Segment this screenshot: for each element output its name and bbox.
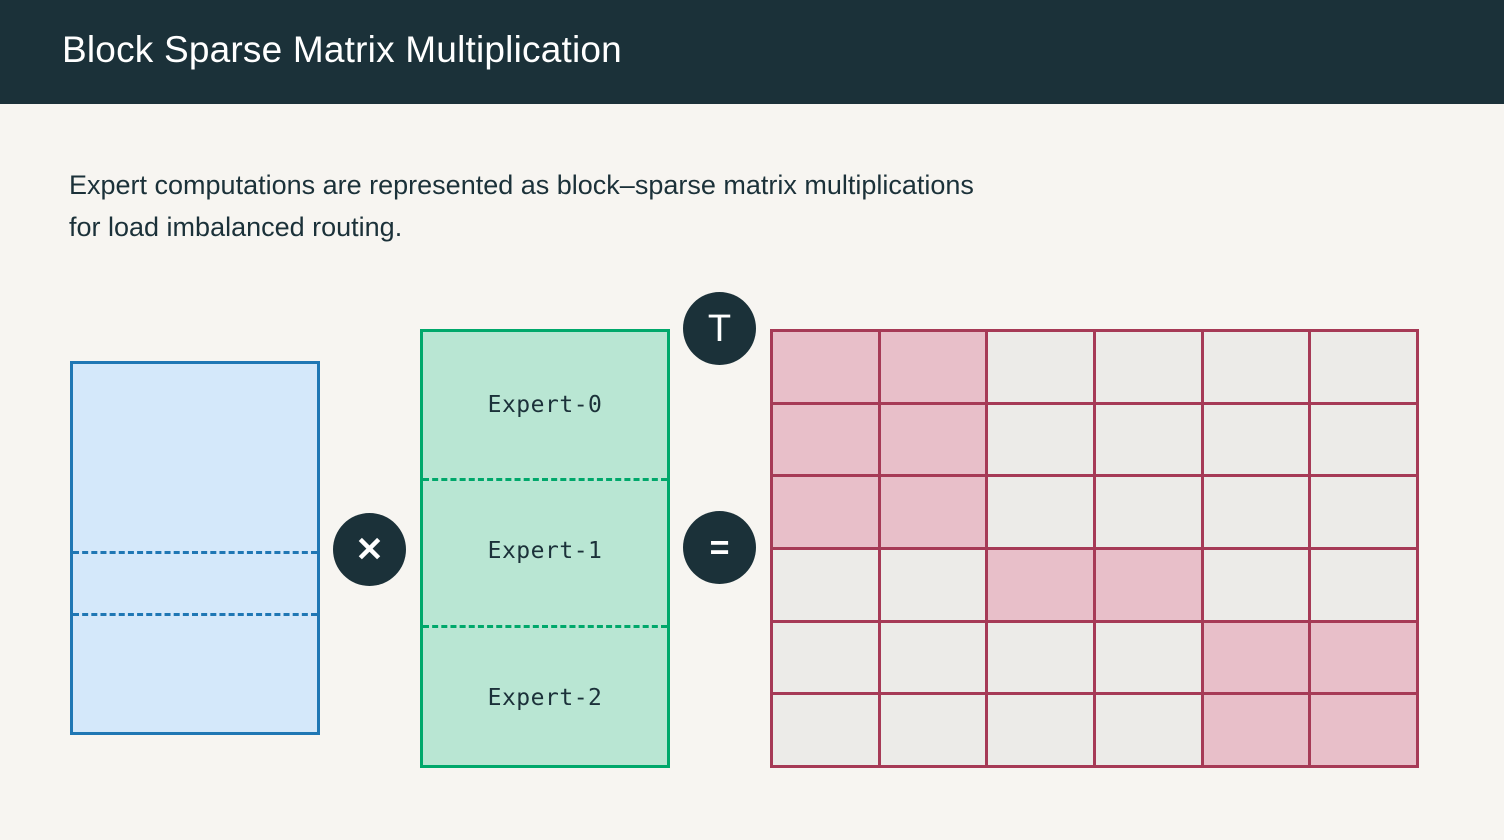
expert-label: Expert-1 [488,538,603,564]
result-cell-active [881,405,989,478]
multiply-operator-badge: ✕ [333,513,406,586]
result-cell-empty [1096,695,1204,768]
result-cell-empty [988,405,1096,478]
expert-section: Expert-1 [423,478,667,624]
result-cell-empty [1096,623,1204,696]
result-cell-empty [1096,405,1204,478]
expert-label: Expert-2 [488,685,603,711]
result-cell-empty [881,695,989,768]
expert-section: Expert-2 [423,625,667,771]
block-sparse-result-matrix [770,329,1419,768]
result-cell-active [773,405,881,478]
tokens-matrix-divider [73,613,317,616]
expert-matrix-divider [423,625,667,628]
result-cell-empty [1204,332,1312,405]
tokens-matrix-divider [73,551,317,554]
equals-operator-badge: = [683,511,756,584]
result-cell-active [1311,623,1419,696]
result-cell-empty [1311,550,1419,623]
result-cell-empty [1096,332,1204,405]
result-cell-empty [1204,477,1312,550]
transpose-icon: T [708,310,731,348]
transpose-operator-badge: T [683,292,756,365]
result-cell-empty [988,477,1096,550]
result-cell-active [773,477,881,550]
result-cell-empty [1096,477,1204,550]
result-cell-active [881,332,989,405]
result-cell-active [881,477,989,550]
result-cell-empty [1311,332,1419,405]
result-cell-empty [1204,405,1312,478]
expert-matrix-divider [423,478,667,481]
result-cell-empty [988,623,1096,696]
equals-icon: = [710,531,730,565]
result-cell-active [1311,695,1419,768]
multiply-icon: ✕ [355,533,384,567]
result-cell-empty [988,332,1096,405]
result-cell-active [1096,550,1204,623]
result-cell-active [988,550,1096,623]
result-cell-empty [773,550,881,623]
result-cell-empty [773,623,881,696]
result-cell-empty [881,623,989,696]
result-cell-empty [1311,477,1419,550]
expert-label: Expert-0 [488,392,603,418]
result-cell-active [1204,695,1312,768]
result-cell-empty [1204,550,1312,623]
result-cell-empty [881,550,989,623]
result-cell-active [1204,623,1312,696]
expert-weights-matrix: Expert-0 Expert-1 Expert-2 [420,329,670,768]
expert-section: Expert-0 [423,332,667,478]
result-cell-empty [988,695,1096,768]
result-cell-empty [1311,405,1419,478]
result-cell-empty [773,695,881,768]
result-cell-active [773,332,881,405]
tokens-matrix [70,361,320,735]
block-sparse-diagram: ✕ Expert-0 Expert-1 Expert-2 T = [0,0,1504,840]
